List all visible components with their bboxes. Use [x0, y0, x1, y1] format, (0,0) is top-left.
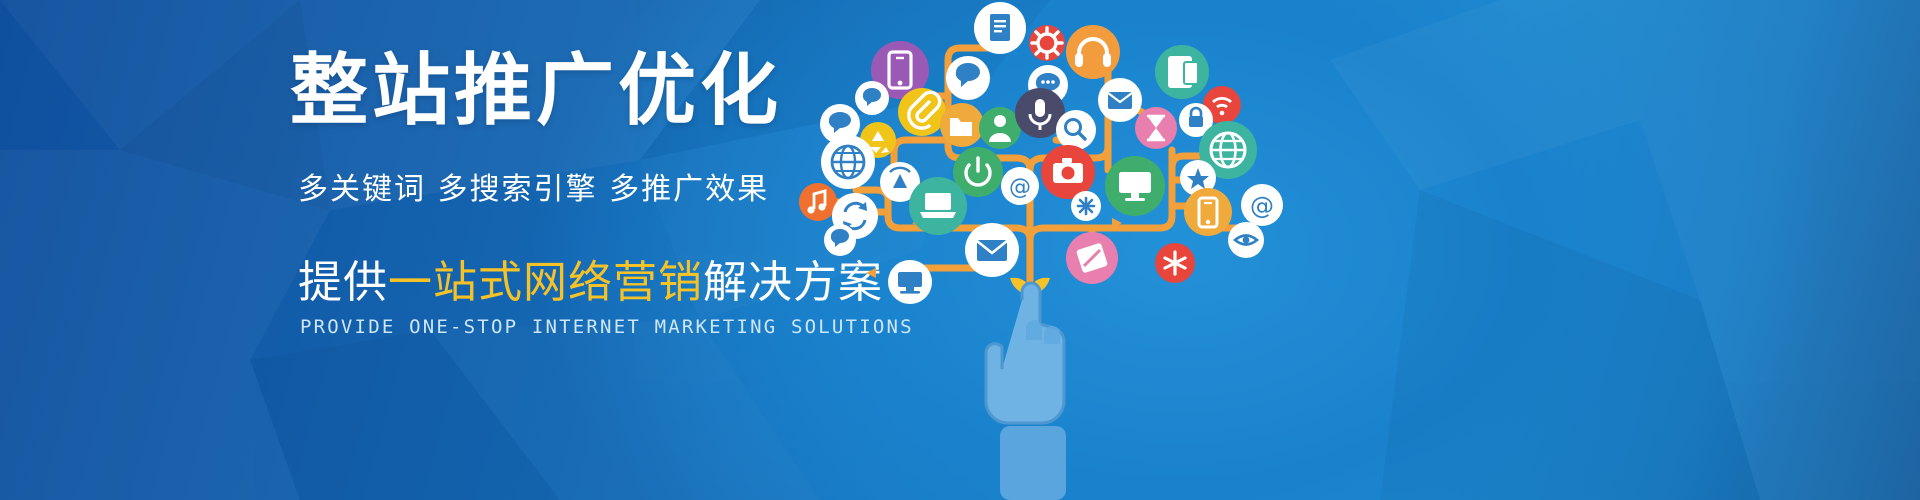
- icon-tree-illustration: @: [770, 0, 1430, 500]
- chat-square-icon: [824, 224, 856, 256]
- folder-icon: [940, 103, 984, 147]
- promo-banner: 整站推广优化 多关键词 多搜索引擎 多推广效果 提供一站式网络营销解决方案 PR…: [0, 0, 1920, 500]
- globe-icon: [821, 135, 875, 189]
- tree-icon-nodes: @: [799, 2, 1283, 304]
- svg-text:@: @: [1009, 175, 1031, 200]
- hourglass-icon: [1135, 107, 1177, 149]
- envelope-icon: [1098, 78, 1142, 122]
- desktop-pc-icon: [888, 260, 932, 304]
- at-sign-2-icon: @: [1241, 184, 1283, 226]
- svg-text:@: @: [1250, 192, 1274, 220]
- search-icon: [1056, 110, 1096, 150]
- camera-icon: [1041, 145, 1095, 199]
- mobile-phone-icon: [1184, 188, 1232, 236]
- document-icon: [974, 2, 1026, 54]
- asterisk-icon: [1155, 243, 1195, 283]
- pen-tablet-icon: [1066, 232, 1118, 284]
- pointing-hand-icon: [986, 283, 1066, 500]
- sparkle-icon: [1071, 191, 1101, 221]
- tagline-prefix: 提供: [298, 257, 388, 308]
- headphones-icon: [1066, 25, 1120, 79]
- laptop-icon: [909, 177, 967, 235]
- monitor-icon: [1105, 156, 1165, 216]
- tagline-highlight: 一站式网络营销: [388, 257, 703, 308]
- at-icon: @: [1001, 167, 1039, 205]
- eye-icon: [1228, 222, 1264, 258]
- music-note-icon: [799, 183, 837, 221]
- paperclip-icon: [898, 88, 946, 136]
- speech-left-icon: [855, 81, 889, 115]
- chat-bubble-icon: [946, 56, 990, 100]
- user-icon: [979, 107, 1021, 149]
- tablet-icon: [1155, 45, 1209, 99]
- mail-icon: [965, 223, 1019, 277]
- gear-icon: [1029, 25, 1065, 61]
